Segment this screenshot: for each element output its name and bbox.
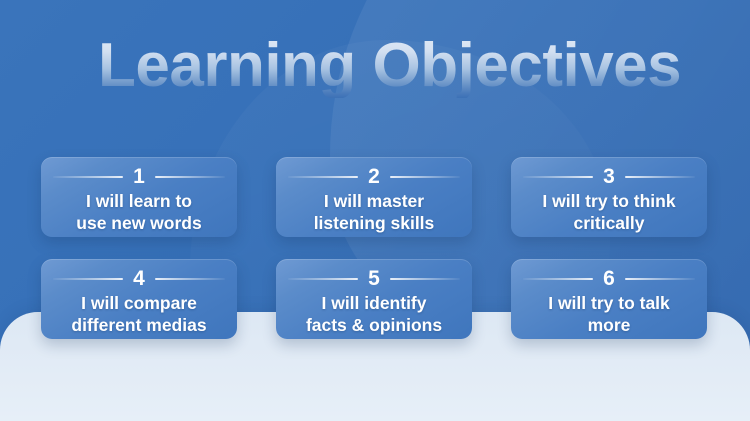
objective-number-divider-6: 6 [523,268,695,289]
objective-card-6[interactable]: 6 I will try to talk more [511,259,707,339]
divider-line-left-icon [53,176,123,178]
objective-card-1[interactable]: 1 I will learn to use new words [41,157,237,237]
objective-text: I will compare different medias [71,293,206,336]
divider-line-left-icon [523,176,593,178]
divider-line-right-icon [390,278,460,280]
objective-number-divider-2: 2 [288,166,460,187]
objective-card-3[interactable]: 3 I will try to think critically [511,157,707,237]
divider-line-left-icon [523,278,593,280]
divider-line-left-icon [288,278,358,280]
objective-text: I will master listening skills [314,191,435,234]
objective-text: I will learn to use new words [76,191,201,234]
objective-number-divider-1: 1 [53,166,225,187]
objective-number: 4 [133,268,145,289]
objective-card-2[interactable]: 2 I will master listening skills [276,157,472,237]
objective-card-4[interactable]: 4 I will compare different medias [41,259,237,339]
divider-line-left-icon [53,278,123,280]
objective-text: I will identify facts & opinions [306,293,442,336]
slide-canvas: Learning Objectives 1 I will learn to us… [0,0,750,421]
divider-line-right-icon [625,278,695,280]
divider-line-right-icon [625,176,695,178]
objective-number: 1 [133,166,145,187]
objective-text: I will try to talk more [548,293,670,336]
page-title: Learning Objectives [98,33,681,98]
divider-line-right-icon [390,176,460,178]
objective-number: 6 [603,268,615,289]
objective-card-5[interactable]: 5 I will identify facts & opinions [276,259,472,339]
objective-number: 2 [368,166,380,187]
objective-number-divider-5: 5 [288,268,460,289]
divider-line-left-icon [288,176,358,178]
objective-number: 5 [368,268,380,289]
objective-number: 3 [603,166,615,187]
divider-line-right-icon [155,278,225,280]
objective-text: I will try to think critically [542,191,675,234]
divider-line-right-icon [155,176,225,178]
objectives-grid: 1 I will learn to use new words 2 I will… [41,157,708,339]
objective-number-divider-3: 3 [523,166,695,187]
objective-number-divider-4: 4 [53,268,225,289]
